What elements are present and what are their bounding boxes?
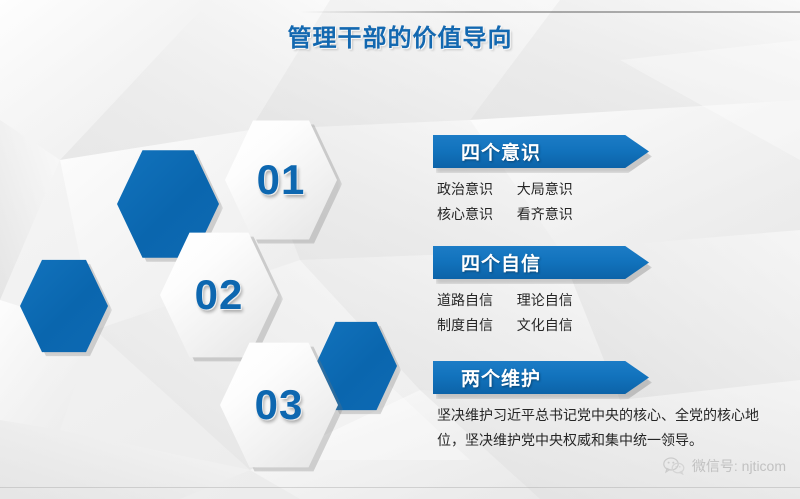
footer-divider <box>0 487 800 488</box>
section-3-banner[interactable]: 两个维护 <box>433 361 649 394</box>
section-2-banner-arrow: 四个自信 <box>433 246 649 279</box>
section-1-line-1-a: 政治意识 <box>437 181 493 197</box>
section-2-line-2-a: 制度自信 <box>437 317 493 333</box>
page-title: 管理干部的价值导向 <box>0 18 800 53</box>
section-1-line-2: 核心意识 看齐意识 <box>437 202 649 227</box>
section-1-line-2-a: 核心意识 <box>437 206 493 222</box>
section-four-confidences: 四个自信 道路自信 理论自信 制度自信 文化自信 <box>433 246 649 338</box>
section-four-consciousnesses: 四个意识 政治意识 大局意识 核心意识 看齐意识 <box>433 135 649 227</box>
section-1-banner-arrow: 四个意识 <box>433 135 649 168</box>
watermark-text: 微信号: njticom <box>692 456 786 476</box>
section-3-banner-label: 两个维护 <box>461 364 541 391</box>
section-1-line-1-b: 大局意识 <box>517 181 573 197</box>
section-two-upholds: 两个维护 坚决维护习近平总书记党中央的核心、全党的核心地位，坚决维护党中央权威和… <box>433 361 767 453</box>
wechat-icon <box>663 457 685 475</box>
presentation-slide: 管理干部的价值导向 01 02 03 四个意识 政治意识 大局意识 <box>0 0 800 499</box>
header-divider <box>300 11 800 13</box>
section-2-line-2: 制度自信 文化自信 <box>437 313 649 338</box>
section-2-banner-label: 四个自信 <box>461 249 541 276</box>
section-1-lines: 政治意识 大局意识 核心意识 看齐意识 <box>437 177 649 227</box>
section-3-paragraph: 坚决维护习近平总书记党中央的核心、全党的核心地位，坚决维护党中央权威和集中统一领… <box>437 403 767 453</box>
section-1-banner[interactable]: 四个意识 <box>433 135 649 168</box>
section-2-line-2-b: 文化自信 <box>517 317 573 333</box>
section-2-line-1-a: 道路自信 <box>437 292 493 308</box>
section-1-banner-label: 四个意识 <box>461 138 541 165</box>
section-1-line-2-b: 看齐意识 <box>517 206 573 222</box>
section-2-line-1: 道路自信 理论自信 <box>437 288 649 313</box>
section-3-banner-arrow: 两个维护 <box>433 361 649 394</box>
section-2-banner[interactable]: 四个自信 <box>433 246 649 279</box>
section-1-line-1: 政治意识 大局意识 <box>437 177 649 202</box>
section-2-line-1-b: 理论自信 <box>517 292 573 308</box>
section-2-lines: 道路自信 理论自信 制度自信 文化自信 <box>437 288 649 338</box>
section-3-lines: 坚决维护习近平总书记党中央的核心、全党的核心地位，坚决维护党中央权威和集中统一领… <box>437 403 767 453</box>
watermark: 微信号: njticom <box>663 456 786 476</box>
